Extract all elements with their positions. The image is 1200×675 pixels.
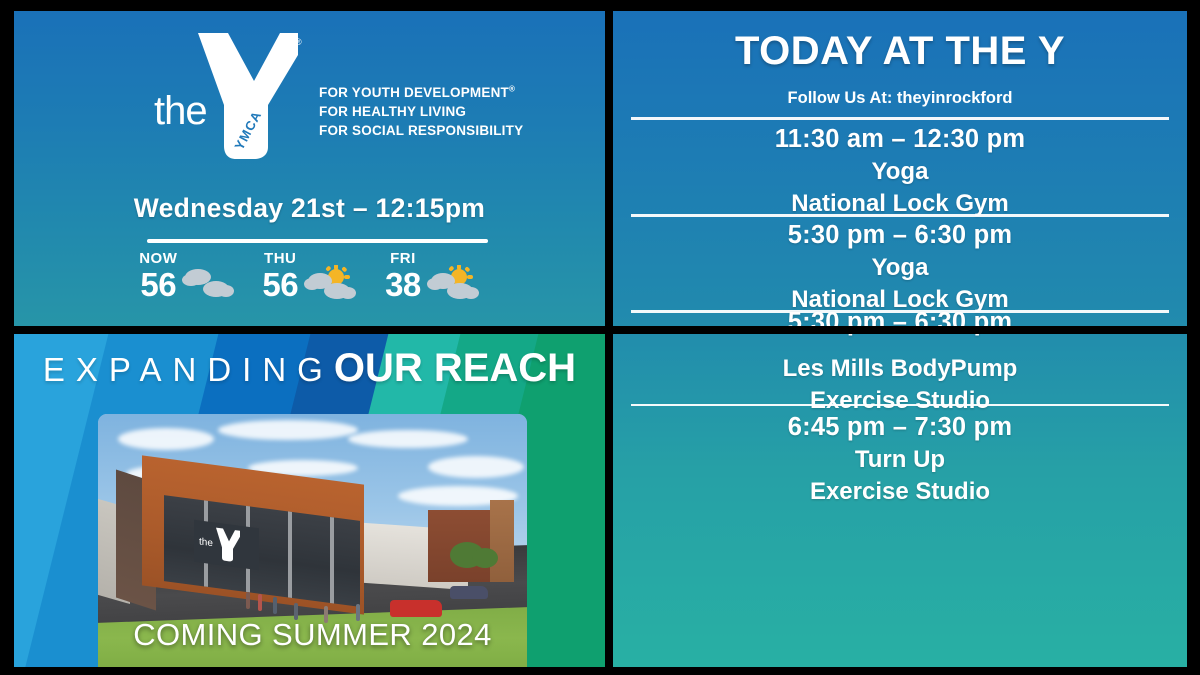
partly-sunny-icon <box>426 265 480 301</box>
pedestrian <box>246 592 250 609</box>
weather-temp-value: 56 <box>262 268 298 301</box>
weather-item: NOW 56 <box>139 251 234 301</box>
car-dark <box>450 586 488 599</box>
sign-the-text: the <box>199 536 213 549</box>
promo-headline-light: EXPANDING <box>43 351 334 388</box>
ymca-logo-icon: the YMCA ® <box>154 29 304 163</box>
event-time: 11:30 am – 12:30 pm <box>613 125 1187 154</box>
schedule-event: 5:30 pm – 6:30 pm Yoga National Lock Gym <box>613 221 1187 314</box>
promo-headline-bold: OUR REACH <box>334 346 576 390</box>
schedule-event: 5:30 pm – 6:30 pm Les Mills BodyPump Exe… <box>613 308 1187 415</box>
divider-rule <box>147 239 488 243</box>
pedestrian <box>258 594 262 611</box>
weather-item: FRI 38 <box>385 251 480 301</box>
schedule-event: 6:45 pm – 7:30 pm Turn Up Exercise Studi… <box>613 413 1187 506</box>
tagline-line-2: FOR HEALTHY LIVING <box>319 102 523 121</box>
event-name: Les Mills BodyPump <box>613 355 1187 383</box>
car-red <box>390 600 442 617</box>
registered-mark-icon: ® <box>295 37 302 47</box>
branding-panel: the YMCA ® FOR YOUTH DEVELOPMENT® FOR HE… <box>14 11 605 326</box>
weather-temp-value: 56 <box>139 268 177 301</box>
divider-rule <box>631 404 1169 406</box>
building-tower <box>490 500 514 582</box>
social-handle-text: Follow Us At: theyinrockford <box>613 89 1187 108</box>
date-time-text: Wednesday 21st – 12:15pm <box>14 193 605 224</box>
weather-item: THU 56 <box>262 251 357 301</box>
divider-rule <box>631 214 1169 217</box>
event-time: 5:30 pm – 6:30 pm <box>613 221 1187 250</box>
building-y-sign: the <box>194 520 259 571</box>
cloudy-icon <box>182 265 234 299</box>
promo-panel: EXPANDINGOUR REACH <box>14 334 605 667</box>
y-mark-icon <box>215 526 241 563</box>
brand-tagline: FOR YOUTH DEVELOPMENT® FOR HEALTHY LIVIN… <box>319 83 523 140</box>
weather-temp-value: 38 <box>385 268 421 301</box>
event-name: Yoga <box>613 254 1187 282</box>
weather-day-label: FRI <box>385 251 421 266</box>
event-location: Exercise Studio <box>613 387 1187 415</box>
schedule-event: 11:30 am – 12:30 pm Yoga National Lock G… <box>613 125 1187 218</box>
building-rendering-image: the COMING SUMMER 2024 <box>98 414 527 667</box>
signage-screen: the YMCA ® FOR YOUTH DEVELOPMENT® FOR HE… <box>0 0 1200 675</box>
schedule-title: TODAY AT THE Y <box>613 29 1187 74</box>
divider-rule <box>631 117 1169 120</box>
event-location: Exercise Studio <box>613 478 1187 506</box>
promo-headline: EXPANDINGOUR REACH <box>14 346 605 391</box>
screen-bezel-seam <box>613 326 1187 334</box>
weather-day-label: THU <box>262 251 298 266</box>
partly-sunny-icon <box>303 265 357 301</box>
schedule-panel: TODAY AT THE Y Follow Us At: theyinrockf… <box>613 11 1187 667</box>
promo-image-caption: COMING SUMMER 2024 <box>98 617 527 653</box>
ymca-logo-block: the YMCA ® FOR YOUTH DEVELOPMENT® FOR HE… <box>14 25 605 155</box>
y-mark-icon: YMCA <box>194 29 302 163</box>
tagline-line-3: FOR SOCIAL RESPONSIBILITY <box>319 121 523 140</box>
event-name: Yoga <box>613 158 1187 186</box>
pedestrian <box>273 597 277 614</box>
event-time: 6:45 pm – 7:30 pm <box>613 413 1187 442</box>
weather-forecast-row: NOW 56 THU 56 <box>14 251 605 301</box>
tagline-line-1: FOR YOUTH DEVELOPMENT® <box>319 83 523 102</box>
event-name: Turn Up <box>613 446 1187 474</box>
weather-day-label: NOW <box>139 251 177 266</box>
